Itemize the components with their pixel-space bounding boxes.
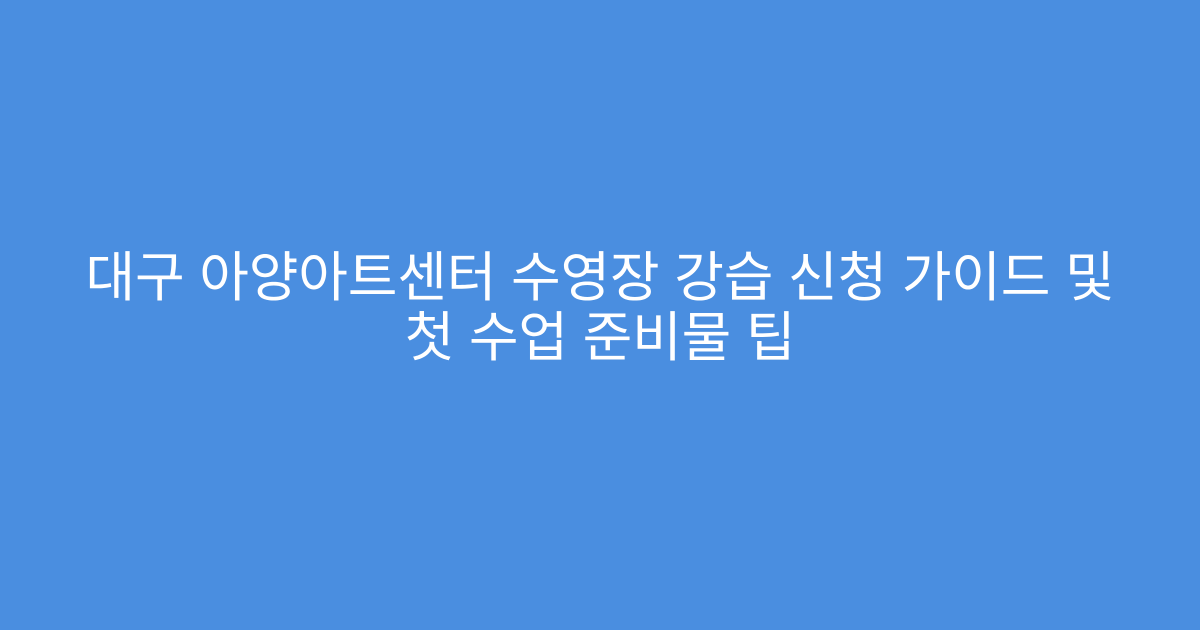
og-share-card: 대구 아양아트센터 수영장 강습 신청 가이드 및 첫 수업 준비물 팁 [0,0,1200,630]
title-block: 대구 아양아트센터 수영장 강습 신청 가이드 및 첫 수업 준비물 팁 [55,248,1145,368]
page-title: 대구 아양아트센터 수영장 강습 신청 가이드 및 첫 수업 준비물 팁 [65,248,1135,368]
